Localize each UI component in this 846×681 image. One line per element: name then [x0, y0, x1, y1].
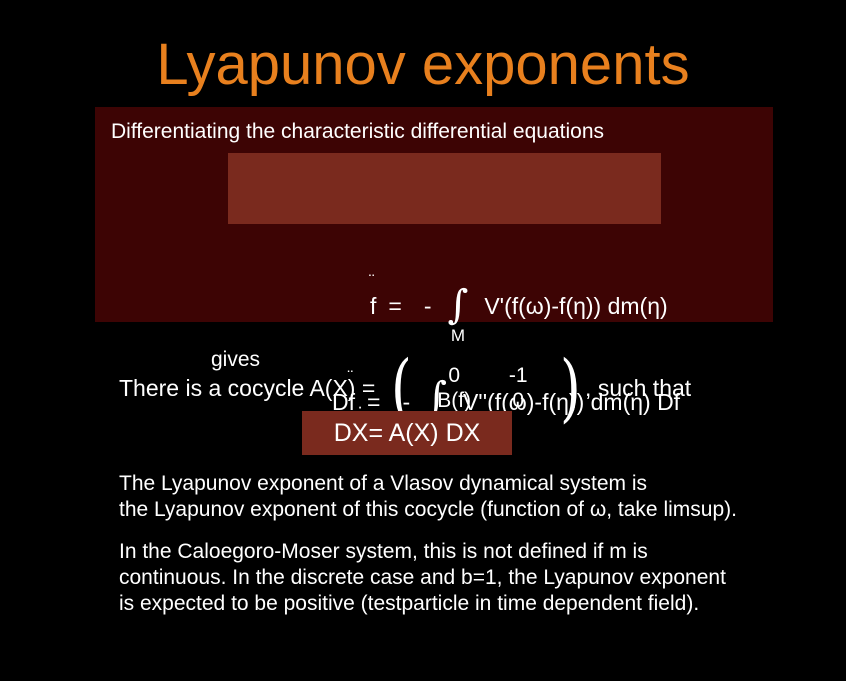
matrix-cell: 0	[486, 388, 550, 413]
matrix-cell: B(f)	[422, 388, 486, 413]
page-title: Lyapunov exponents	[0, 34, 846, 96]
equation-1: ¨ f = - ∫ M V'(f(ω)-f(η)) dm(η)	[370, 288, 668, 319]
equation-1-lhs-symbol: f	[370, 293, 376, 319]
integral-glyph: ∫	[448, 282, 469, 328]
dx-equation: D · X = A(X) DX	[302, 411, 512, 455]
matrix-row: 0 -1	[422, 363, 550, 388]
derivation-panel: Differentiating the characteristic diffe…	[95, 107, 773, 322]
dx-equation-dotted-letter: X	[352, 419, 369, 447]
equation-1-highlight-box	[228, 153, 661, 224]
double-dot-accent-icon: ¨	[369, 278, 378, 284]
equation-1-equals: =	[388, 293, 401, 319]
derivation-lead-text: Differentiating the characteristic diffe…	[111, 119, 604, 144]
cocycle-matrix: 0 -1 B(f) 0	[416, 363, 556, 413]
equation-1-integrand: V'(f(ω)-f(η)) dm(η)	[484, 293, 667, 319]
integral-lower-limit: M	[451, 327, 465, 344]
dx-equation-prefix: D	[334, 419, 352, 447]
cocycle-suffix-text: , such that	[585, 375, 691, 402]
cocycle-prefix-text: There is a cocycle A(X) =	[119, 375, 375, 402]
single-dot-accent-icon: ·	[357, 404, 363, 410]
slide-canvas: Lyapunov exponents Differentiating the c…	[0, 0, 846, 681]
dx-equation-highlight-box: D · X = A(X) DX	[302, 411, 512, 455]
integral-icon: ∫ M	[444, 292, 473, 318]
matrix-cell: -1	[486, 363, 550, 388]
matrix-cell: 0	[422, 363, 486, 388]
equation-1-lhs: ¨ f	[370, 293, 376, 319]
right-paren-icon: )	[560, 362, 581, 414]
dx-equation-dotted-letter-wrap: · X	[352, 419, 369, 447]
cocycle-statement: There is a cocycle A(X) = ( 0 -1 B(f) 0 …	[119, 362, 691, 414]
note-paragraph-1: The Lyapunov exponent of a Vlasov dynami…	[119, 471, 737, 523]
left-paren-icon: (	[391, 362, 412, 414]
matrix-row: B(f) 0	[422, 388, 550, 413]
dx-equation-rest: = A(X) DX	[368, 419, 480, 447]
note-paragraph-2: In the Caloegoro-Moser system, this is n…	[119, 539, 726, 617]
equation-1-minus: -	[424, 293, 432, 319]
